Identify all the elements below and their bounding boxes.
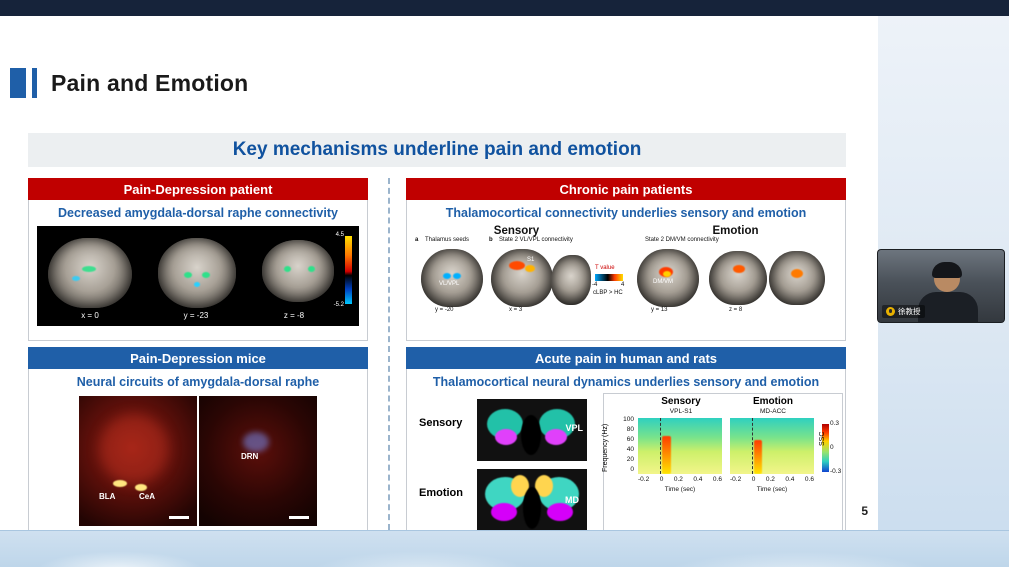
spectrogram-vpl-s1 [638, 418, 722, 474]
mic-muted-icon [886, 307, 895, 316]
panel-acute-pain-human-rats: Acute pain in human and rats Thalamocort… [406, 347, 846, 531]
colorbar [595, 274, 623, 281]
spect-title-vpl-s1: VPL-S1 [638, 408, 724, 415]
panel-subtitle: Thalamocortical connectivity underlies s… [407, 200, 845, 224]
colorbar-caption: cLBP > HC [593, 290, 623, 296]
seed-label-dmvm: DM/VM [653, 279, 673, 285]
subpanel-tag-b: b [489, 237, 493, 243]
x-axis-label: Time (sec) [638, 486, 722, 493]
slice-label: y = -23 [148, 311, 244, 320]
panel-header: Pain-Depression mice [28, 347, 368, 369]
atlas-label-md: MD [565, 495, 579, 505]
label-cea: CeA [139, 492, 155, 501]
group-label-emotion: Emotion [636, 225, 836, 237]
y-tick: 60 [616, 436, 634, 443]
x-tick: -0.2 [638, 476, 649, 483]
meeting-bottom-bar [0, 530, 1009, 567]
colorbar-max: 4 [621, 282, 624, 288]
colorbar-label: SSC [819, 432, 826, 446]
colorbar-group: 0.3 0 -0.3 SSC [820, 418, 838, 478]
slice-label: y = 13 [651, 307, 668, 313]
x-tick: 0.4 [785, 476, 794, 483]
colorbar-min: -0.3 [830, 468, 841, 475]
scale-bar [169, 516, 189, 519]
colorbar-title: T value [595, 265, 615, 271]
spect-title-md-acc: MD-ACC [730, 408, 816, 415]
x-tick: 0 [752, 476, 756, 483]
participant-name-badge: 徐教授 [882, 305, 925, 318]
slide-title-row: Pain and Emotion [10, 66, 870, 100]
subpanel-title-vlvpl: State 2 VL/VPL connectivity [499, 237, 573, 243]
colorbar-min: -4 [592, 282, 597, 288]
x-tick: 0.6 [713, 476, 722, 483]
connectivity-figure: a b Thalamus seeds State 2 VL/VPL connec… [413, 237, 839, 323]
panel-header: Pain-Depression patient [28, 178, 368, 200]
x-axis-label: Time (sec) [730, 486, 814, 493]
spectrogram-md-acc [730, 418, 814, 474]
label-bla: BLA [99, 492, 115, 501]
slice-label: x = 3 [509, 307, 522, 313]
colorbar-group: T value -4 4 cLBP > HC [595, 265, 631, 305]
participant-video-tile[interactable]: 徐教授 [878, 250, 1004, 322]
y-tick: 80 [616, 426, 634, 433]
meeting-window: Pain and Emotion Key mechanisms underlin… [0, 0, 1009, 567]
slice-label: y = -20 [435, 307, 454, 313]
seed-label-vlvpl: VL/VPL [439, 281, 459, 287]
panel-header: Acute pain in human and rats [406, 347, 846, 369]
x-tick-row: -0.2 0 0.2 0.4 0.6 [638, 476, 722, 483]
group-label-row: Sensory Emotion [407, 225, 845, 237]
brain-connectivity-dmvm: z = 8 [709, 249, 829, 307]
x-tick-row: -0.2 0 0.2 0.4 0.6 [730, 476, 814, 483]
colorbar-min: -5.2 [334, 302, 344, 308]
column-divider [388, 178, 390, 530]
banner-text: Key mechanisms underline pain and emotio… [233, 139, 642, 161]
title-accent-block [10, 68, 26, 98]
screen-share-stage: Pain and Emotion Key mechanisms underlin… [0, 16, 878, 531]
decorative-wave [0, 531, 1009, 567]
brain-seed-dmvm: DM/VM y = 13 [637, 249, 699, 307]
meeting-top-bar [0, 0, 1009, 16]
y-tick: 20 [616, 456, 634, 463]
subpanel-title-thalamus-seeds: Thalamus seeds [425, 237, 469, 243]
panel-body: Decreased amygdala-dorsal raphe connecti… [28, 200, 368, 341]
subpanel-tag-a: a [415, 237, 418, 243]
colorbar-max: 4.5 [336, 232, 344, 238]
brain-connectivity-vlvpl: S1 x = 3 [491, 249, 591, 307]
histology-amygdala: BLA CeA [79, 396, 197, 526]
slice-label: x = 0 [42, 311, 138, 320]
participant-name: 徐教授 [898, 306, 921, 317]
x-tick: 0.4 [693, 476, 702, 483]
brain-slice-axial: 4.5 -5.2 z = -8 [254, 232, 354, 320]
group-label-sensory: Sensory [417, 225, 617, 237]
panel-chronic-pain-patients: Chronic pain patients Thalamocortical co… [406, 178, 846, 341]
spectrogram-figure: Sensory Emotion VPL [407, 393, 845, 531]
label-drn: DRN [241, 452, 258, 461]
spectrogram-panel: Sensory Emotion VPL-S1 MD-ACC Frequency … [603, 393, 843, 531]
group-label-sensory: Sensory [638, 396, 724, 407]
row-label-sensory: Sensory [419, 417, 462, 429]
participant-body [918, 292, 978, 322]
panel-body: Neural circuits of amygdala-dorsal raphe… [28, 369, 368, 531]
region-label-s1: S1 [527, 257, 534, 263]
y-tick: 100 [616, 416, 634, 423]
panel-header: Chronic pain patients [406, 178, 846, 200]
scale-bar [289, 516, 309, 519]
presentation-slide: Pain and Emotion Key mechanisms underlin… [0, 30, 878, 524]
brain-slice-figure: x = 0 y = -23 [37, 226, 359, 326]
group-label-emotion: Emotion [730, 396, 816, 407]
colorbar-mid: 0 [830, 444, 834, 451]
brain-seed-vlvpl: VL/VPL y = -20 [421, 249, 483, 307]
colorbar-max: 0.3 [830, 420, 839, 427]
panel-body: Thalamocortical neural dynamics underlie… [406, 369, 846, 531]
panel-subtitle: Neural circuits of amygdala-dorsal raphe [29, 369, 367, 393]
slice-label: z = -8 [254, 311, 334, 320]
histology-drn: DRN [199, 396, 317, 526]
x-tick: -0.2 [730, 476, 741, 483]
atlas-vpl: VPL [477, 399, 587, 461]
slide-banner: Key mechanisms underline pain and emotio… [28, 133, 846, 167]
panel-subtitle: Decreased amygdala-dorsal raphe connecti… [29, 200, 367, 224]
panel-pain-depression-mice: Pain-Depression mice Neural circuits of … [28, 347, 368, 531]
page-title: Pain and Emotion [51, 70, 248, 97]
panel-pain-depression-patient: Pain-Depression patient Decreased amygda… [28, 178, 368, 341]
x-tick: 0.6 [805, 476, 814, 483]
panel-subtitle: Thalamocortical neural dynamics underlie… [407, 369, 845, 393]
histology-figure: BLA CeA DRN [29, 396, 367, 526]
y-axis-label: Frequency (Hz) [602, 424, 609, 472]
brain-slice-sagittal: x = 0 [42, 232, 138, 320]
slice-label: z = 8 [729, 307, 742, 313]
x-tick: 0.2 [766, 476, 775, 483]
subpanel-title-dmvm: State 2 DM/VM connectivity [645, 237, 719, 243]
x-tick: 0.2 [674, 476, 683, 483]
slide-page-number: 5 [861, 504, 868, 518]
y-tick: 0 [616, 466, 634, 473]
x-tick: 0 [660, 476, 664, 483]
title-accent-bar [32, 68, 37, 98]
atlas-label-vpl: VPL [565, 423, 583, 433]
participant-hair [932, 262, 962, 278]
y-tick: 40 [616, 446, 634, 453]
colorbar [345, 236, 352, 304]
atlas-md: MD [477, 469, 587, 531]
brain-slice-coronal: y = -23 [148, 232, 244, 320]
row-label-emotion: Emotion [419, 487, 463, 499]
panel-body: Thalamocortical connectivity underlies s… [406, 200, 846, 341]
